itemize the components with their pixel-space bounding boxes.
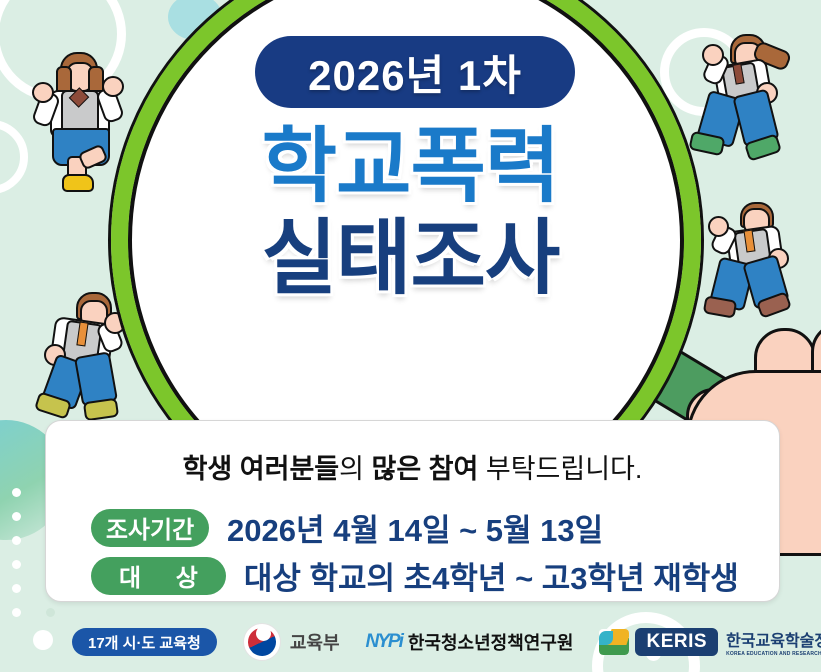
info-row-period: 조사기간 2026년 4월 14일 ~ 5월 13일 <box>91 505 603 550</box>
headline-normal-2: 부탁드립니다. <box>478 454 642 484</box>
value-target: 대상 학교의 초4학년 ~ 고3학년 재학생 <box>244 553 739 598</box>
page-title-line2: 실태조사 <box>0 218 821 300</box>
label-pill-period: 조사기간 <box>91 509 209 547</box>
keris-label-en: KOREA EDUCATION AND RESEARCH INFORMATION… <box>726 651 821 657</box>
headline-bold-2: 많은 참여 <box>371 454 478 484</box>
value-period: 2026년 4월 14일 ~ 5월 13일 <box>227 505 603 550</box>
logo-keris: KERIS 한국교육학술정보원 KOREA EDUCATION AND RESE… <box>599 627 821 657</box>
page-title-line1: 학교폭력 <box>0 126 821 208</box>
label-pill-target: 대 상 <box>91 557 226 595</box>
info-row-target: 대 상 대상 학교의 초4학년 ~ 고3학년 재학생 <box>91 553 739 598</box>
info-panel: 학생 여러분들의 많은 참여 부탁드립니다. 조사기간 2026년 4월 14일… <box>45 420 780 602</box>
headline-bold-1: 학생 여러분들 <box>183 454 340 484</box>
taeguk-icon <box>243 623 281 661</box>
poster-root: 2026년 1차 학교폭력 실태조사 학생 여러분들의 많은 참여 부탁드립니다… <box>0 0 821 672</box>
nypi-mark-icon: NYPi <box>366 631 402 653</box>
headline-normal-1: 의 <box>339 454 371 484</box>
logo-nypi: NYPi 한국청소년정책연구원 <box>366 629 574 655</box>
panel-headline: 학생 여러분들의 많은 참여 부탁드립니다. <box>46 447 779 486</box>
footer-logos: 17개 시·도 교육청 교육부 NYPi 한국청소년정책연구원 KERIS 한국… <box>0 612 821 672</box>
keris-leaf-icon <box>599 629 629 655</box>
logo-moe: 교육부 <box>243 623 340 661</box>
keris-label-kr: 한국교육학술정보원 <box>726 627 821 651</box>
edition-badge: 2026년 1차 <box>255 36 575 108</box>
nypi-label: 한국청소년정책연구원 <box>408 629 574 655</box>
moe-label: 교육부 <box>290 629 340 655</box>
keris-mark: KERIS <box>635 628 718 656</box>
office-of-education-pill: 17개 시·도 교육청 <box>72 628 217 656</box>
keris-text-block: 한국교육학술정보원 KOREA EDUCATION AND RESEARCH I… <box>726 627 821 657</box>
